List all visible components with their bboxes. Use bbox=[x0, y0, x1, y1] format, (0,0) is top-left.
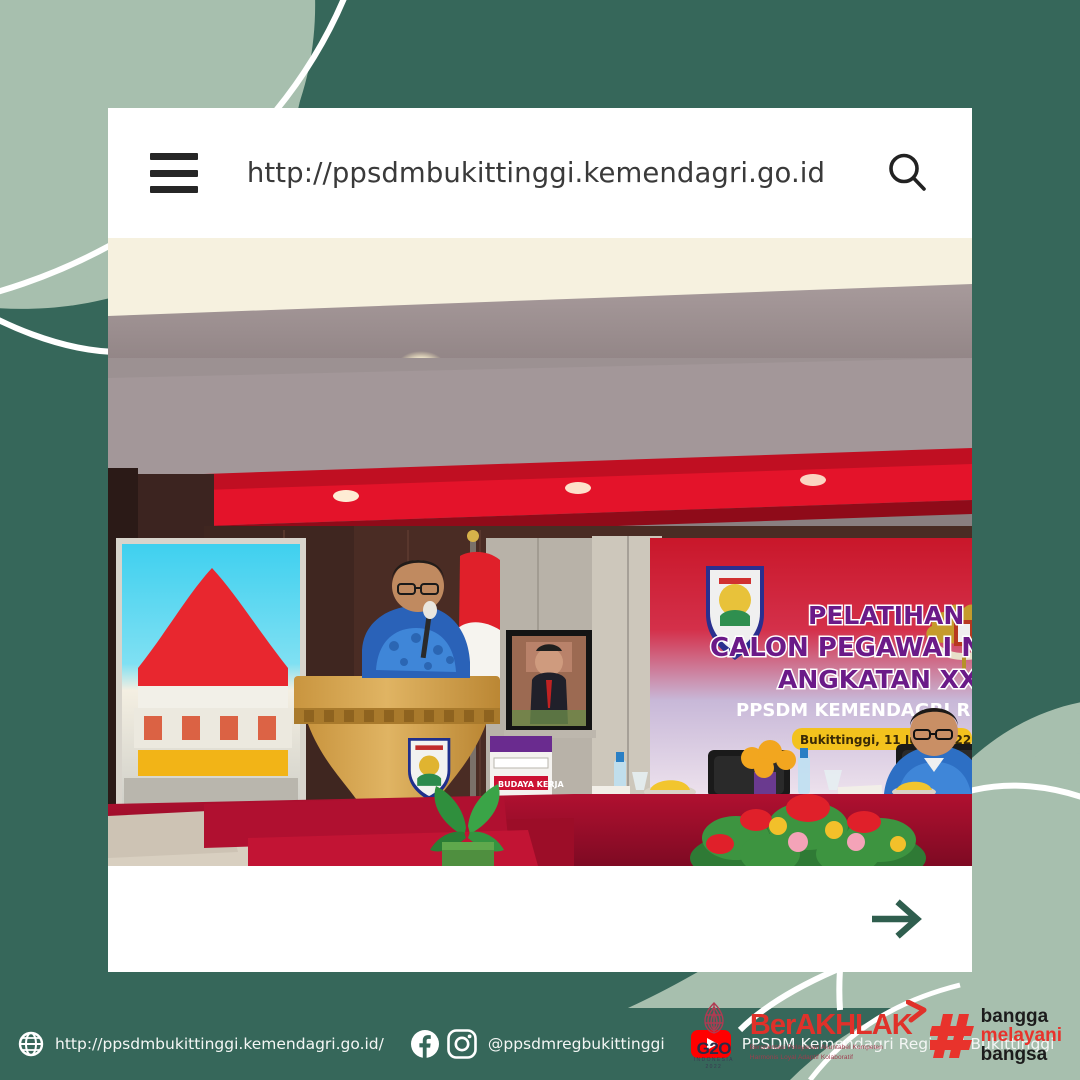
berakhlak-tagline-2: Harmonis Loyal Adaptif Kolaboratif bbox=[750, 1053, 912, 1062]
bangga-line-3: bangsa bbox=[981, 1045, 1062, 1064]
berakhlak-wordmark: BerAKHLAK bbox=[750, 1009, 912, 1041]
event-photo: PELATIHAN DA CALON PEGAWAI NEGERI SIPIL … bbox=[108, 238, 972, 866]
card-header: http://ppsdmbukittinggi.kemendagri.go.id bbox=[108, 108, 972, 238]
g20-label: G2O bbox=[694, 1040, 734, 1057]
social-handle-label: @ppsdmregbukittinggi bbox=[488, 1035, 665, 1053]
globe-icon bbox=[18, 1031, 44, 1057]
content-card: http://ppsdmbukittinggi.kemendagri.go.id bbox=[108, 108, 972, 972]
arrow-right-icon[interactable] bbox=[868, 898, 926, 940]
bangga-line-1: bangga bbox=[981, 1007, 1062, 1026]
search-icon[interactable] bbox=[882, 147, 934, 199]
hashtag-icon bbox=[930, 1010, 976, 1062]
g20-logo: G2O INDONESIA 2022 bbox=[694, 1001, 734, 1074]
bangga-melayani-bangsa-logo: bangga melayani bangsa bbox=[930, 1007, 1062, 1074]
svg-text:BUDAYA KERJA: BUDAYA KERJA bbox=[498, 780, 564, 789]
berakhlak-tagline-1: Berorientasi Pelayanan Akuntabel Kompete… bbox=[750, 1043, 912, 1052]
card-footer bbox=[108, 866, 972, 972]
g20-sub2: 2022 bbox=[694, 1064, 734, 1070]
hamburger-menu-icon[interactable] bbox=[150, 153, 198, 193]
berakhlak-logo: BerAKHLAK Berorientasi Pelayanan Akuntab… bbox=[750, 1009, 912, 1074]
address-bar-url[interactable]: http://ppsdmbukittinggi.kemendagri.go.id bbox=[198, 157, 882, 189]
event-photo-illustration: PELATIHAN DA CALON PEGAWAI NEGERI SIPIL … bbox=[108, 238, 972, 866]
bangga-line-2: melayani bbox=[981, 1026, 1062, 1045]
g20-ornament-icon bbox=[694, 1001, 734, 1035]
facebook-icon[interactable] bbox=[410, 1029, 440, 1059]
hamburger-bar-2 bbox=[150, 170, 198, 177]
website-url-label: http://ppsdmbukittinggi.kemendagri.go.id… bbox=[55, 1035, 384, 1053]
hamburger-bar-1 bbox=[150, 153, 198, 160]
social-item[interactable]: @ppsdmregbukittinggi bbox=[410, 1029, 665, 1059]
berakhlak-swoosh-icon bbox=[906, 1000, 928, 1026]
partner-logos: G2O INDONESIA 2022 BerAKHLAK Berorientas… bbox=[694, 1001, 1072, 1074]
g20-sub1: INDONESIA bbox=[694, 1057, 734, 1064]
instagram-icon[interactable] bbox=[447, 1029, 477, 1059]
svg-text:ANGKATAN XXI, XXII: ANGKATAN XXI, XXII bbox=[778, 665, 972, 694]
svg-text:PELATIHAN DA: PELATIHAN DA bbox=[808, 601, 972, 630]
svg-text:CALON PEGAWAI NEGERI SIPIL: CALON PEGAWAI NEGERI SIPIL bbox=[710, 633, 972, 663]
hamburger-bar-3 bbox=[150, 186, 198, 193]
website-item[interactable]: http://ppsdmbukittinggi.kemendagri.go.id… bbox=[18, 1031, 384, 1057]
